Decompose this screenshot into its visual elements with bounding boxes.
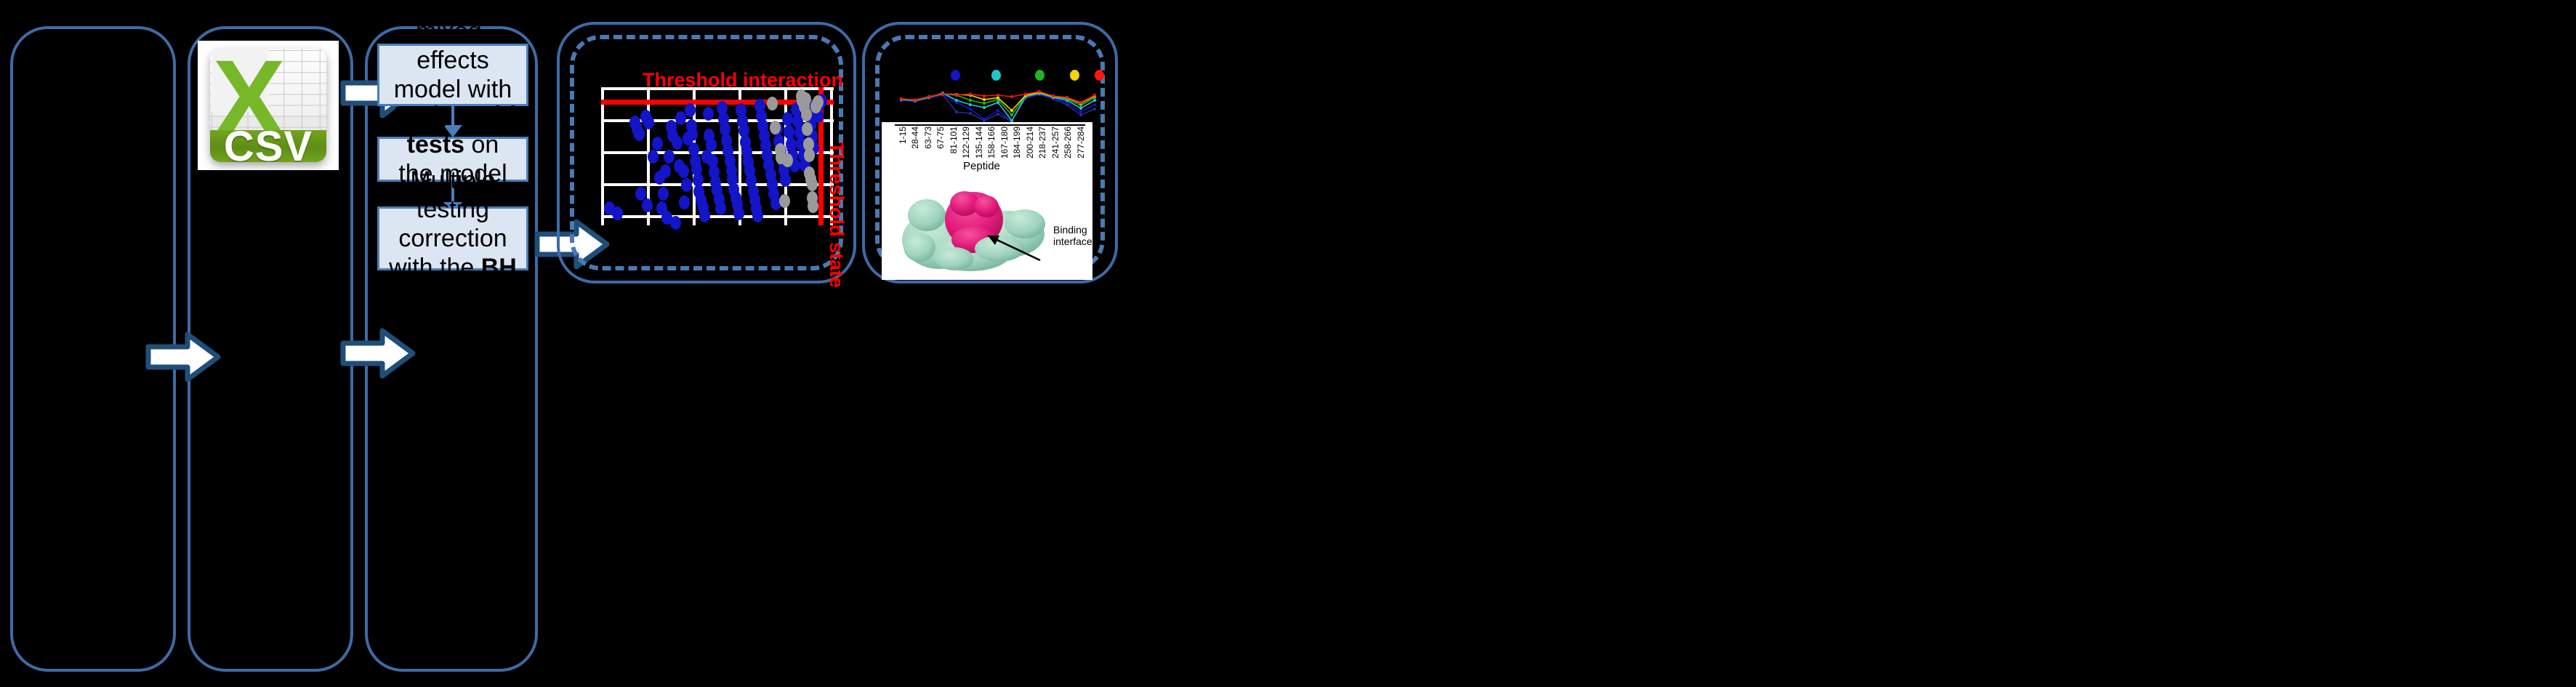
peptide-tick-label: 1-15 (898, 126, 908, 144)
legend-dot (991, 70, 1001, 81)
scatter-point (813, 95, 824, 109)
peptide-series-marker (1052, 95, 1055, 97)
peptide-tick-label: 241-257 (1050, 126, 1060, 158)
binding-interface-callout: Binding interface (1053, 224, 1092, 247)
scatter-point (634, 127, 645, 141)
peptide-series-marker (955, 93, 958, 96)
peptide-series-marker (997, 94, 999, 97)
peptide-tick-label: 258-266 (1063, 126, 1073, 158)
peptide-series-marker (1010, 113, 1013, 116)
peptide-tick-label: 135-144 (974, 126, 984, 158)
scatter-point (706, 138, 717, 152)
legend-dot (1035, 70, 1045, 81)
scatter-point (681, 178, 692, 192)
peptide-series-marker (969, 92, 972, 95)
scatter-point (652, 137, 663, 150)
peptide-series-marker (1024, 92, 1027, 95)
bh-line-3: with the BH procedure (387, 253, 519, 311)
binding-interface-line-2: interface (1053, 236, 1092, 247)
scatter-point (779, 194, 790, 208)
wald-line-1-pre: Apply (390, 102, 459, 129)
threshold-scatter-plot (601, 87, 834, 225)
scatter-point (675, 111, 686, 125)
arrow-input-to-data (145, 331, 222, 383)
peptide-tick-label: 122-129 (961, 126, 971, 158)
csv-file-icon: X CSV (198, 41, 339, 170)
peptide-tick-label: 28-44 (910, 126, 920, 149)
scatter-point (800, 92, 811, 106)
peptide-series-marker (955, 99, 958, 102)
protein-structure-render (898, 177, 1050, 273)
scatter-point (678, 164, 689, 178)
csv-label-band: CSV (210, 130, 326, 162)
peptide-series-marker (914, 98, 917, 101)
peptide-series-marker (1093, 94, 1096, 97)
peptide-series-marker (969, 99, 972, 102)
legend-dot (951, 70, 960, 81)
peptide-legend (893, 70, 1103, 83)
peptide-series-marker (983, 95, 986, 97)
scatter-point (660, 164, 671, 178)
peptide-line-chart (893, 81, 1103, 124)
bh-line-3-pre: with the (389, 254, 481, 281)
peptide-series-marker (983, 98, 986, 101)
scatter-point (679, 196, 690, 209)
peptide-tick-label: 158-166 (986, 126, 997, 158)
fit-model-line-2: effects model with (387, 46, 519, 104)
peptide-series-marker (927, 95, 930, 98)
scatter-point (685, 103, 696, 117)
peptide-series-marker (1010, 95, 1013, 98)
peptide-axis-title: Peptide (963, 160, 1000, 172)
peptide-series-marker (983, 102, 986, 105)
peptide-tick-label: 167-180 (999, 126, 1010, 158)
peptide-tick-label: 277-284 (1076, 126, 1086, 158)
multiple-testing-box[interactable]: Multiple testing correction with the BH … (377, 206, 528, 270)
peptide-series-marker (955, 111, 958, 113)
peptide-tick-label: 81-101 (949, 126, 959, 153)
peptide-series-marker (1093, 103, 1096, 106)
peptide-series-marker (969, 108, 972, 111)
binding-interface-line-1: Binding (1053, 224, 1092, 236)
peptide-tick-label: 184-199 (1012, 126, 1022, 158)
peptide-axis-tick-row: 1-1528-4463-7367-7581-101122-129135-1441… (895, 126, 1085, 158)
peptide-tick-label: 63-73 (923, 126, 933, 149)
peptide-series-marker (941, 92, 944, 95)
legend-dot (1095, 70, 1104, 81)
scatter-point (801, 108, 812, 121)
legend-dot (1070, 70, 1079, 81)
csv-x-letter: X (213, 49, 266, 113)
peptide-series-marker (900, 97, 903, 100)
wald-line-1-post: on (464, 131, 499, 158)
peptide-series-marker (983, 118, 986, 121)
fit-model-line-1: Fit a linear mixed- (387, 0, 519, 46)
peptide-series-marker (1066, 96, 1068, 99)
scatter-point (807, 177, 818, 191)
threshold-state-label: Threshold state (825, 142, 848, 288)
peptide-series-marker (1093, 108, 1096, 111)
scatter-point (643, 116, 654, 129)
scatter-point (733, 206, 744, 220)
scatter-point (784, 125, 794, 139)
peptide-series-marker (1010, 109, 1013, 112)
peptide-series-marker (1093, 99, 1096, 102)
bh-keyword: BH (481, 254, 517, 281)
csv-label-text: CSV (224, 122, 313, 162)
peptide-axis-rule (895, 124, 1085, 126)
peptide-series-marker (997, 113, 999, 116)
peptide-tick-label: 67-75 (935, 126, 946, 149)
fit-model-box[interactable]: Fit a linear mixed- effects model with R… (377, 44, 528, 106)
scatter-point (804, 148, 815, 162)
peptide-series-marker (1079, 113, 1082, 116)
wald-line-1: Apply Wald tests on (387, 101, 519, 159)
peptide-series-marker (1038, 90, 1041, 93)
scatter-point (670, 216, 681, 230)
threshold-interaction-label: Threshold interaction (643, 69, 843, 92)
bh-line-3-post: procedure (397, 283, 508, 310)
peptide-series-marker (1079, 107, 1082, 110)
results-sheet: 0.0 1-1528-4463-7367-7581-101122-129135-… (882, 122, 1092, 280)
bh-line-2: correction (398, 224, 507, 253)
scatter-point (642, 198, 653, 212)
scatter-point (648, 150, 659, 164)
peptide-series-marker (983, 106, 986, 109)
peptide-series-marker (969, 112, 972, 115)
scatter-point (703, 107, 714, 121)
bh-line-1: Multiple testing (387, 166, 519, 224)
peptide-series-marker (969, 103, 972, 106)
peptide-series-marker (1079, 101, 1082, 104)
csv-tile: X CSV (210, 49, 326, 163)
peptide-series-marker (1079, 111, 1082, 113)
peptide-tick-label: 218-237 (1037, 126, 1047, 158)
scatter-point (715, 201, 726, 215)
peptide-tick-label: 200-214 (1025, 126, 1035, 158)
peptide-series-marker (997, 109, 999, 112)
arrow-data-to-analysis (340, 327, 416, 379)
